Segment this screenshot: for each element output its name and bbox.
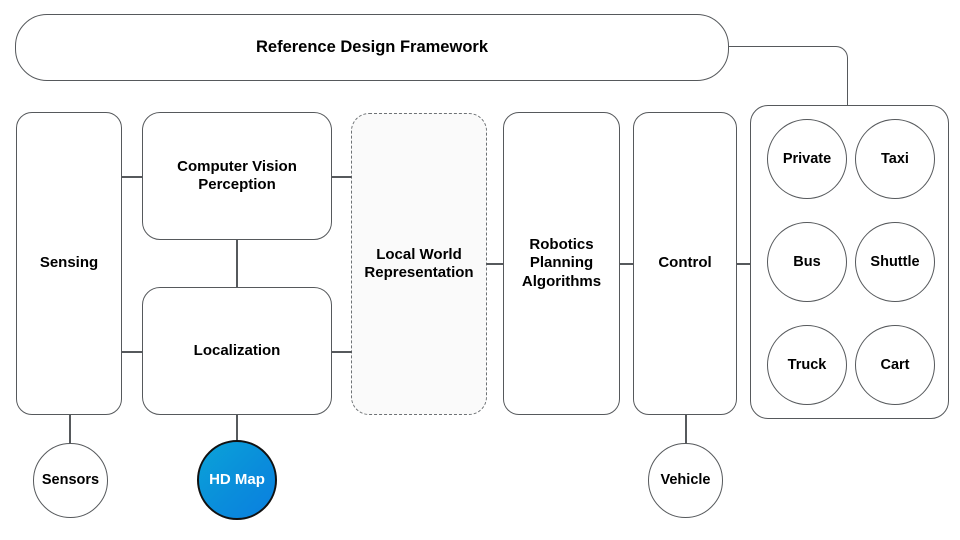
stage-robotics-planning-algorithms[interactable]: Robotics Planning Algorithms [503,112,620,415]
vehicle-type-taxi-label: Taxi [881,151,909,167]
connector-perception-to-localization [236,239,238,288]
vehicle-type-cart[interactable]: Cart [855,325,935,405]
leaf-node-vehicle-label: Vehicle [655,472,717,490]
connector-control-to-vehicle-panel [736,263,751,265]
stage-control-label: Control [652,254,717,272]
vehicle-type-shuttle[interactable]: Shuttle [855,222,935,302]
stage-perception-label: Computer Vision Perception [171,158,303,195]
connector-localization-to-hd-map [236,414,238,441]
stage-localization[interactable]: Localization [142,287,332,415]
stage-localization-label: Localization [188,342,287,360]
vehicle-type-truck-label: Truck [788,357,827,373]
connector-sensing-to-perception [121,176,143,178]
vehicle-type-shuttle-label: Shuttle [870,254,919,270]
vehicle-type-private[interactable]: Private [767,119,847,199]
vehicle-type-truck[interactable]: Truck [767,325,847,405]
vehicle-type-bus-label: Bus [793,254,820,270]
connector-localization-to-world-model [331,351,352,353]
stage-control[interactable]: Control [633,112,737,415]
connector-control-to-vehicle [685,414,687,444]
connector-world-model-to-planning [486,263,504,265]
connector-planning-to-control [619,263,634,265]
banner-label: Reference Design Framework [250,37,494,57]
leaf-node-sensors[interactable]: Sensors [33,443,108,518]
stage-sensing[interactable]: Sensing [16,112,122,415]
leaf-node-hd-map[interactable]: HD Map [197,440,277,520]
connector-banner-to-vehicle-panel [728,46,848,106]
leaf-node-vehicle[interactable]: Vehicle [648,443,723,518]
stage-world-model-label: Local World Representation [358,246,479,283]
vehicle-type-bus[interactable]: Bus [767,222,847,302]
connector-sensing-to-sensors [69,414,71,444]
vehicle-type-taxi[interactable]: Taxi [855,119,935,199]
vehicle-type-private-label: Private [783,151,831,167]
connector-perception-to-world-model [331,176,352,178]
leaf-node-sensors-label: Sensors [36,472,105,490]
diagram-canvas: Reference Design Framework Sensing Compu… [0,0,960,540]
vehicle-types-panel: Private Taxi Bus Shuttle Truck Cart [750,105,949,419]
stage-planning-label: Robotics Planning Algorithms [516,236,607,291]
leaf-node-hd-map-label: HD Map [203,471,271,489]
connector-sensing-to-localization [121,351,143,353]
stage-sensing-label: Sensing [34,254,104,272]
vehicle-type-cart-label: Cart [880,357,909,373]
stage-computer-vision-perception[interactable]: Computer Vision Perception [142,112,332,240]
reference-design-framework-banner[interactable]: Reference Design Framework [15,14,729,81]
stage-local-world-representation[interactable]: Local World Representation [351,113,487,415]
